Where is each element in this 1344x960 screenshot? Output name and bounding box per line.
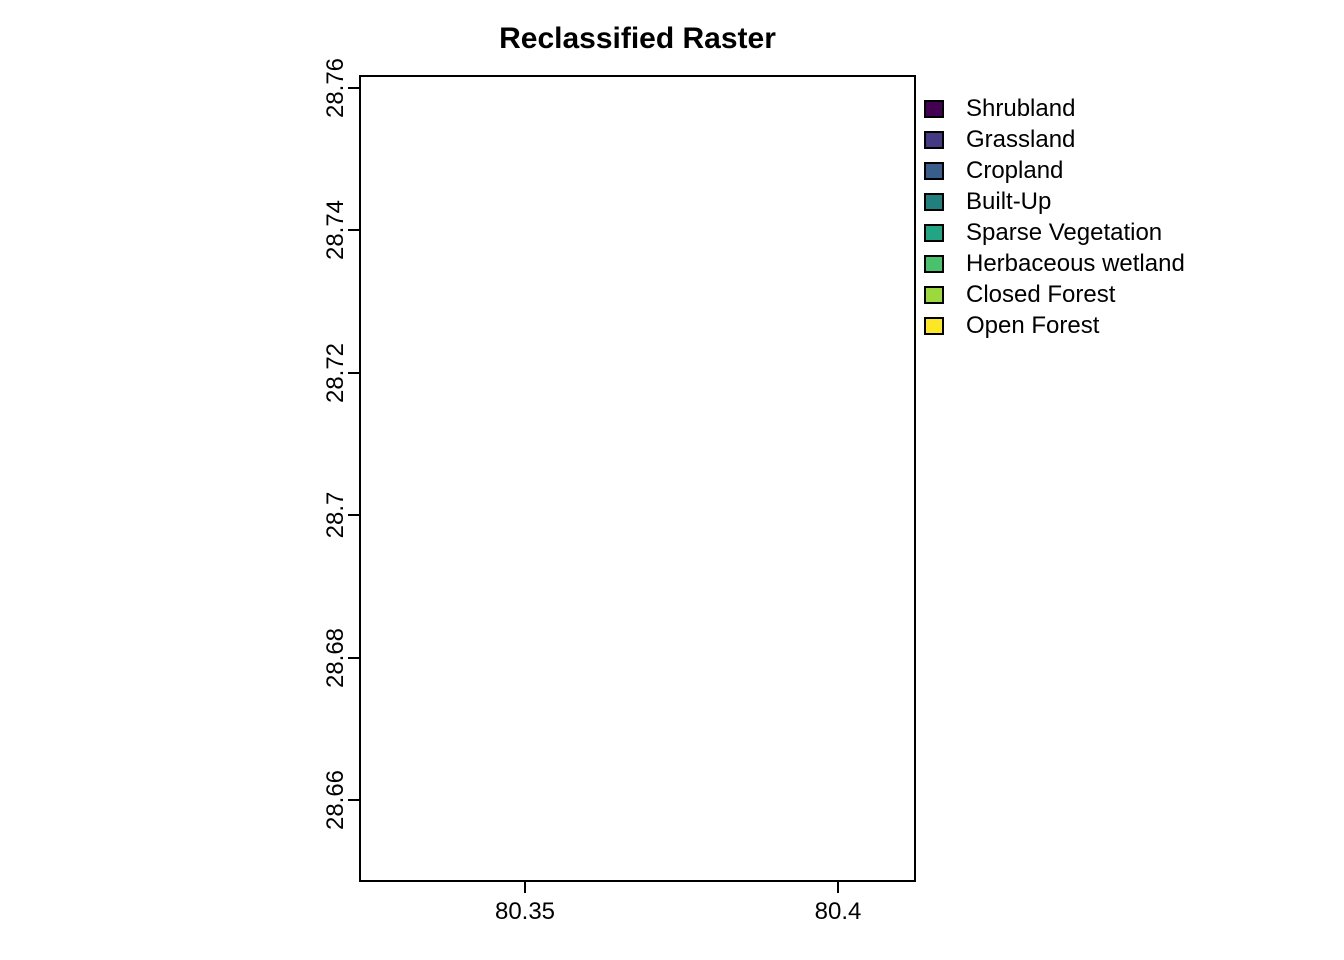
y-tick-label: 28.7 — [322, 455, 350, 575]
legend-item: Open Forest — [924, 310, 1185, 341]
legend-item-label: Cropland — [966, 159, 1063, 183]
legend-item-label: Sparse Vegetation — [966, 221, 1162, 245]
legend-item: Closed Forest — [924, 279, 1185, 310]
y-tick-label: 28.76 — [322, 28, 350, 148]
legend-swatch-built-up — [924, 193, 944, 211]
legend-swatch-cropland — [924, 162, 944, 180]
legend-swatch-shrubland — [924, 100, 944, 118]
page-title: Reclassified Raster — [359, 22, 916, 56]
legend-item-label: Open Forest — [966, 314, 1099, 338]
y-tick-label: 28.66 — [322, 740, 350, 860]
legend-item-label: Grassland — [966, 128, 1075, 152]
legend: ShrublandGrasslandCroplandBuilt-UpSparse… — [924, 93, 1185, 341]
legend-item-label: Shrubland — [966, 97, 1075, 121]
legend-swatch-sparse-vegetation — [924, 224, 944, 242]
legend-swatch-grassland — [924, 131, 944, 149]
legend-swatch-herbaceous-wetland — [924, 255, 944, 273]
legend-item: Sparse Vegetation — [924, 217, 1185, 248]
x-tick-mark — [524, 882, 526, 893]
legend-swatch-open-forest — [924, 317, 944, 335]
legend-item: Built-Up — [924, 186, 1185, 217]
y-tick-label: 28.72 — [322, 313, 350, 433]
x-tick-label: 80.35 — [445, 898, 605, 926]
legend-item-label: Built-Up — [966, 190, 1051, 214]
legend-item-label: Closed Forest — [966, 283, 1115, 307]
y-tick-label: 28.68 — [322, 598, 350, 718]
legend-item: Shrubland — [924, 93, 1185, 124]
legend-item: Grassland — [924, 124, 1185, 155]
legend-item: Herbaceous wetland — [924, 248, 1185, 279]
x-tick-label: 80.4 — [758, 898, 918, 926]
legend-swatch-closed-forest — [924, 286, 944, 304]
y-tick-label: 28.74 — [322, 170, 350, 290]
plot-frame — [359, 75, 916, 882]
x-tick-mark — [837, 882, 839, 893]
raster-map-figure: Reclassified Raster 28.7628.7428.7228.72… — [0, 0, 1344, 960]
legend-item-label: Herbaceous wetland — [966, 252, 1185, 276]
legend-item: Cropland — [924, 155, 1185, 186]
